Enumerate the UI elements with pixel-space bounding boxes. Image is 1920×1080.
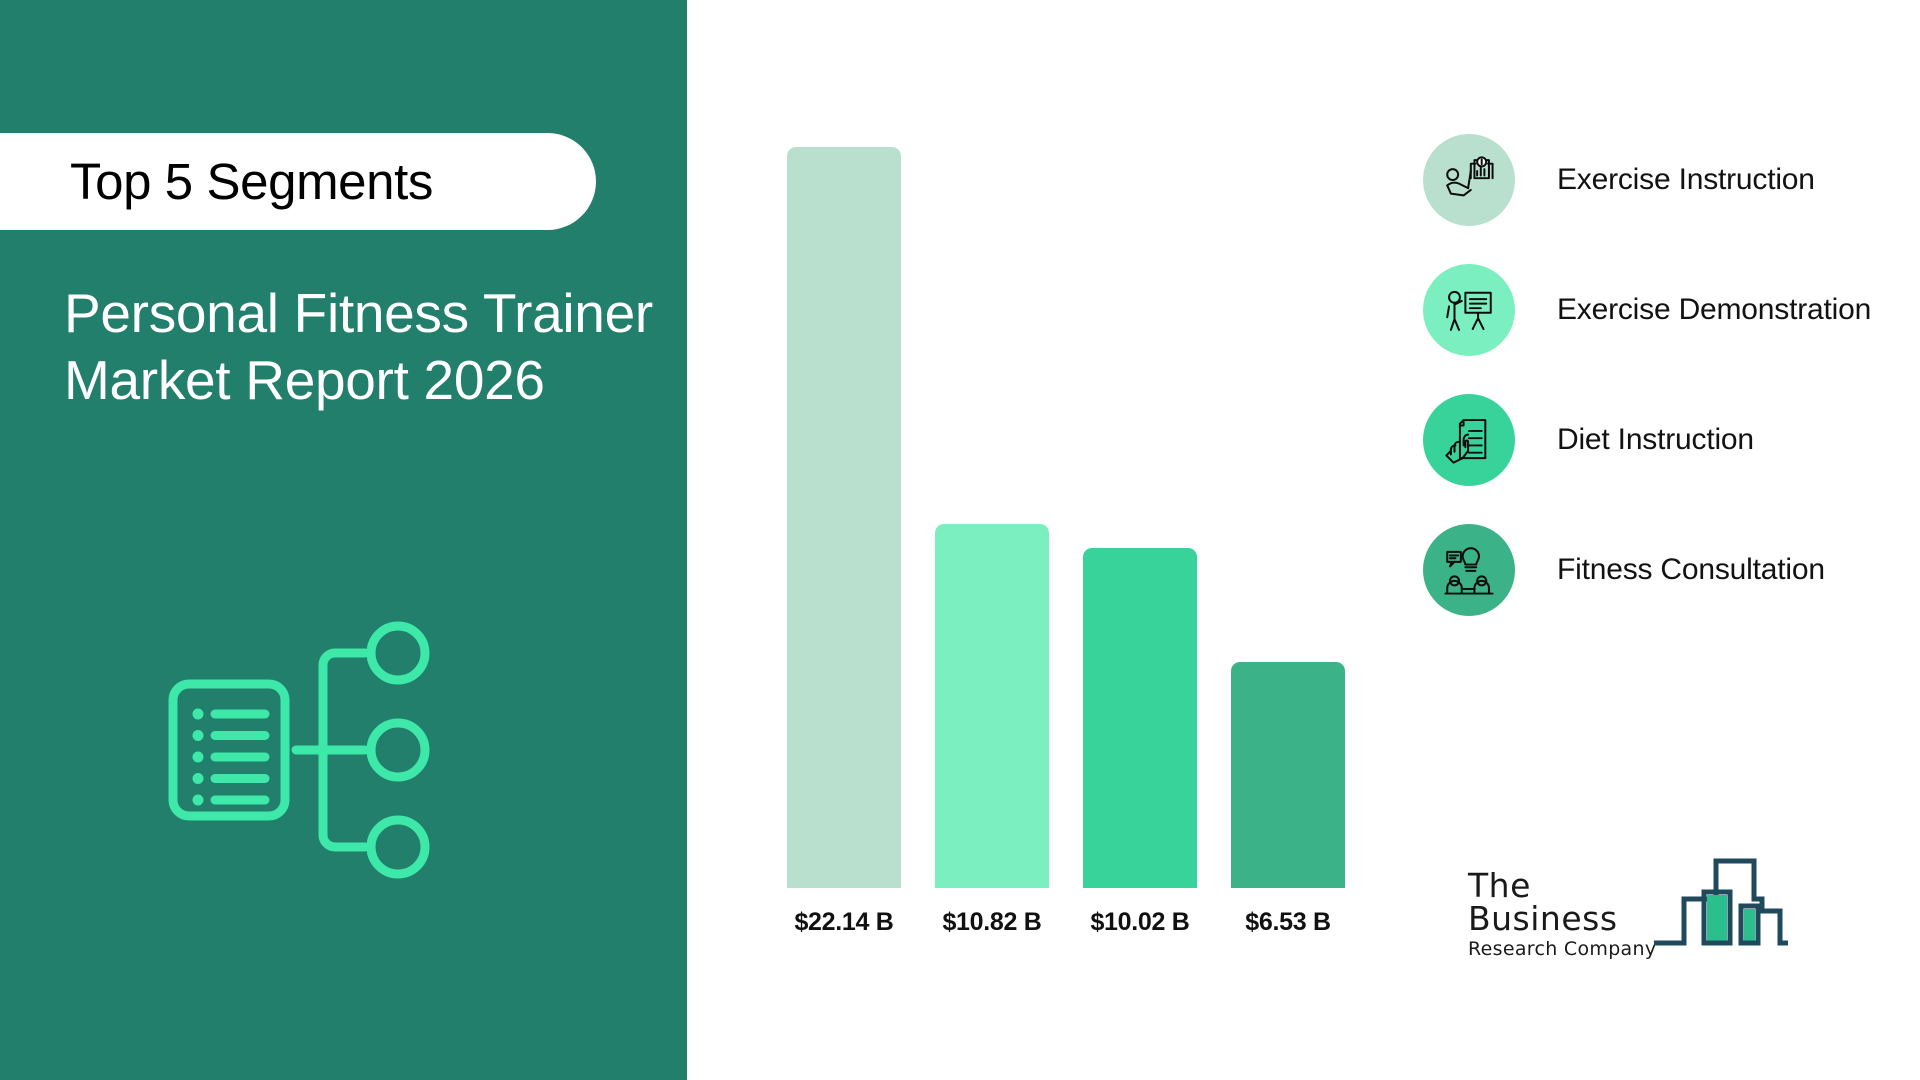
legend-item-label: Exercise Demonstration bbox=[1557, 293, 1871, 327]
page-title: Personal Fitness Trainer Market Report 2… bbox=[64, 280, 664, 414]
bar-3: $10.02 B bbox=[1083, 548, 1197, 888]
exercise-demonstration-icon bbox=[1423, 264, 1515, 356]
badge-label: Top 5 Segments bbox=[0, 156, 433, 207]
top-segments-badge: Top 5 Segments bbox=[0, 133, 596, 230]
logo-line-2: Research Company bbox=[1468, 935, 1678, 964]
segmentation-hierarchy-icon bbox=[165, 608, 455, 903]
bar-series: $22.14 B$10.82 B$10.02 B$6.53 B bbox=[787, 143, 1347, 888]
logo-wordmark: The Business Research Company bbox=[1468, 869, 1678, 964]
bar-rect bbox=[787, 147, 901, 888]
logo-line-1: The Business bbox=[1468, 869, 1678, 935]
bar-value-label: $6.53 B bbox=[1245, 908, 1330, 937]
bar-value-label: $22.14 B bbox=[794, 908, 893, 937]
legend-item-4: Fitness Consultation bbox=[1423, 518, 1920, 622]
legend-item-2: Exercise Demonstration bbox=[1423, 258, 1920, 362]
left-panel: Top 5 Segments Personal Fitness Trainer … bbox=[0, 0, 687, 1080]
diet-instruction-icon bbox=[1423, 394, 1515, 486]
legend-item-label: Exercise Instruction bbox=[1557, 163, 1815, 197]
bar-rect bbox=[1083, 548, 1197, 888]
chart-legend: Exercise Instruction Exercise Demonstrat… bbox=[1423, 128, 1920, 648]
exercise-instruction-icon bbox=[1423, 134, 1515, 226]
fitness-consultation-icon bbox=[1423, 524, 1515, 616]
bar-value-label: $10.02 B bbox=[1090, 908, 1189, 937]
bar-1: $22.14 B bbox=[787, 147, 901, 888]
company-logo: The Business Research Company bbox=[1468, 855, 1788, 950]
legend-item-label: Fitness Consultation bbox=[1557, 553, 1825, 587]
bar-chart-logo-mark bbox=[1654, 855, 1788, 950]
bar-rect bbox=[935, 524, 1049, 888]
bar-2: $10.82 B bbox=[935, 524, 1049, 888]
bar-rect bbox=[1231, 662, 1345, 888]
legend-item-label: Diet Instruction bbox=[1557, 423, 1754, 457]
legend-item-1: Exercise Instruction bbox=[1423, 128, 1920, 232]
legend-item-3: Diet Instruction bbox=[1423, 388, 1920, 492]
bar-4: $6.53 B bbox=[1231, 662, 1345, 888]
bar-value-label: $10.82 B bbox=[942, 908, 1041, 937]
